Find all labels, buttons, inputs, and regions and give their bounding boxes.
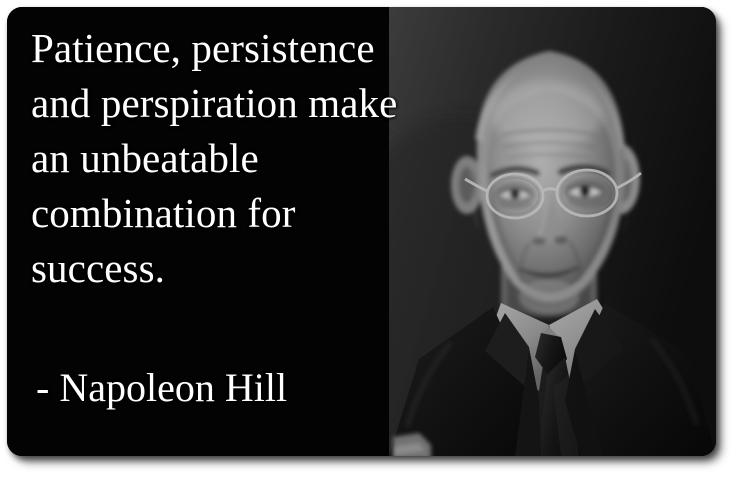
portrait-photo [389, 7, 716, 456]
text-backdrop [7, 7, 389, 456]
quote-attribution: - Napoleon Hill [36, 365, 287, 411]
portrait-illustration [389, 7, 716, 456]
quote-card: Patience, persistence and perspiration m… [7, 7, 716, 456]
